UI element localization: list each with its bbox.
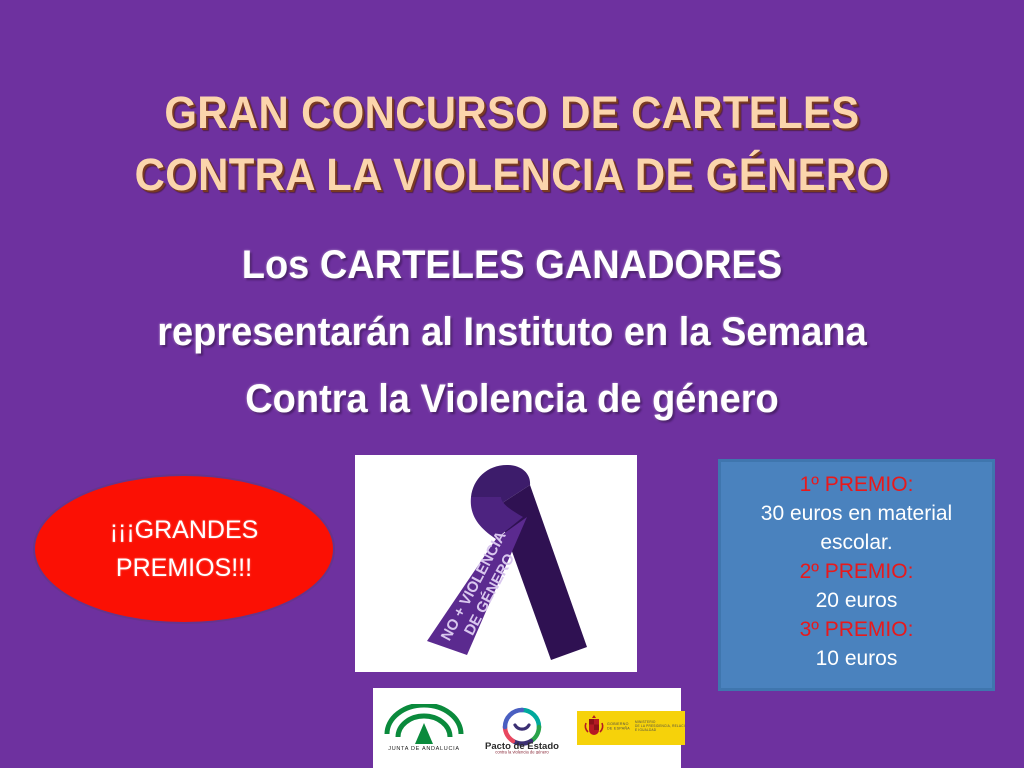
- subtitle-line-2: representarán al Instituto en la Semana: [26, 299, 999, 366]
- ministerio-line-3: E IGUALDAD: [635, 728, 657, 732]
- prize-1-heading: 1º PREMIO:: [721, 470, 992, 499]
- junta-de-andalucia-caption: JUNTA DE ANDALUCIA: [388, 746, 459, 752]
- headline-line-1: GRAN CONCURSO DE CARTELES: [36, 82, 988, 144]
- grandes-premios-text: ¡¡¡GRANDES PREMIOS!!!: [110, 511, 259, 587]
- grandes-premios-line-2: PREMIOS!!!: [110, 549, 259, 587]
- subtitle-line-3: Contra la Violencia de género: [26, 366, 999, 433]
- prizes-box: 1º PREMIO: 30 euros en material escolar.…: [718, 459, 995, 691]
- subtitle-line-1: Los CARTELES GANADORES: [26, 232, 999, 299]
- subtitle-block: Los CARTELES GANADORES representarán al …: [0, 232, 1024, 433]
- sponsor-logos-strip: JUNTA DE ANDALUCIA Pacto de Estado contr…: [373, 688, 681, 768]
- ribbon-icon: NO + VIOLENCIA DE GÉNERO: [355, 455, 637, 672]
- gobierno-line-2: DE ESPAÑA: [607, 726, 630, 731]
- gobierno-line-1: GOBIERNO: [607, 722, 629, 726]
- headline-line-2: CONTRA LA VIOLENCIA DE GÉNERO: [36, 144, 988, 206]
- gobierno-de-espana-logo-icon: GOBIERNO DE ESPAÑA MINISTERIO DE LA PRES…: [577, 711, 685, 745]
- prize-3-heading: 3º PREMIO:: [721, 615, 992, 644]
- poster-canvas: GRAN CONCURSO DE CARTELES CONTRA LA VIOL…: [0, 0, 1024, 768]
- prize-2-value-line-1: 20 euros: [721, 586, 992, 615]
- prize-1-value-line-2: escolar.: [721, 528, 992, 557]
- junta-de-andalucia-logo-icon: JUNTA DE ANDALUCIA: [381, 704, 467, 752]
- page-title: GRAN CONCURSO DE CARTELES CONTRA LA VIOL…: [0, 82, 1024, 206]
- grandes-premios-line-1: ¡¡¡GRANDES: [110, 511, 259, 549]
- grandes-premios-badge: ¡¡¡GRANDES PREMIOS!!!: [35, 476, 333, 622]
- prize-2-heading: 2º PREMIO:: [721, 557, 992, 586]
- pacto-de-estado-logo-icon: Pacto de Estado contra la violencia de g…: [474, 702, 570, 754]
- prize-3-value-line-1: 10 euros: [721, 644, 992, 673]
- awareness-ribbon-image: NO + VIOLENCIA DE GÉNERO: [355, 455, 637, 672]
- pacto-de-estado-subcaption: contra la violencia de género: [495, 750, 549, 755]
- prize-1-value-line-1: 30 euros en material: [721, 499, 992, 528]
